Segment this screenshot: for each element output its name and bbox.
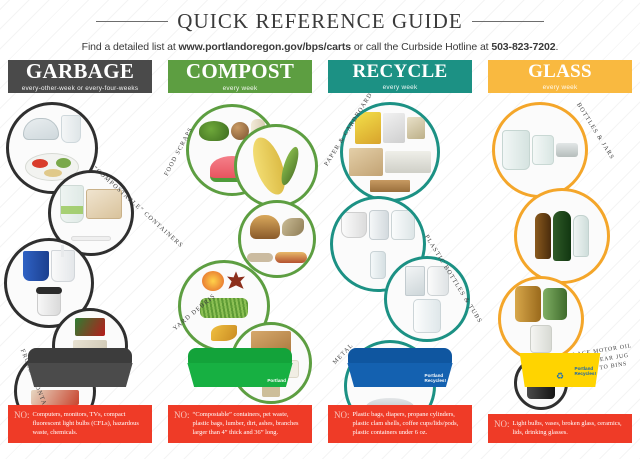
subtitle-text-end: . xyxy=(556,41,559,53)
item-mason-jar xyxy=(502,130,530,170)
banner-recycle: RECYCLE every week xyxy=(328,60,472,93)
item-clear-cup xyxy=(60,185,84,223)
item-can-label xyxy=(407,117,425,139)
item-glass-jar-small xyxy=(532,135,554,165)
title-row: QUICK REFERENCE GUIDE xyxy=(0,9,640,34)
banner-title-compost: COMPOST xyxy=(186,61,294,82)
item-paper-bag-recycle xyxy=(349,148,383,176)
no-label-garbage: NO: xyxy=(14,410,30,437)
banner-frequency-garbage: every-other-week or every-four-weeks xyxy=(22,85,139,92)
item-clamshell xyxy=(23,118,59,140)
website-link[interactable]: www.portlandoregon.gov/bps/carts xyxy=(178,41,351,53)
item-glass-jar-lid xyxy=(556,143,578,157)
banner-frequency-glass: every week xyxy=(543,84,578,91)
item-amber-jar xyxy=(515,286,541,322)
item-cardboard xyxy=(370,180,410,192)
item-cereal-box-2 xyxy=(383,113,405,143)
bin-recycle: Portland Recycles! xyxy=(344,348,456,387)
item-shrimp xyxy=(282,218,304,236)
item-hotdog xyxy=(275,252,307,263)
item-lettuce xyxy=(199,121,229,141)
banner-title-garbage: GARBAGE xyxy=(26,61,134,82)
item-yogurt-tub xyxy=(341,212,367,238)
item-chip-bag xyxy=(75,318,105,336)
item-clear-bottle xyxy=(573,215,589,257)
no-label-compost: NO: xyxy=(174,410,190,437)
subtitle-text-mid: or call the Curbside Hotline at xyxy=(351,41,491,53)
category-columns: GARBAGE every-other-week or every-four-w… xyxy=(0,60,640,459)
photo-circle-compost-3 xyxy=(238,200,316,278)
column-recycle: RECYCLE every week xyxy=(320,60,480,459)
item-juice-carton xyxy=(405,266,425,296)
no-box-compost: NO: “Compostable” containers, pet waste,… xyxy=(168,405,312,443)
photo-circle-recycle-3 xyxy=(384,256,470,342)
item-newspaper xyxy=(385,151,431,173)
item-milk-jug xyxy=(391,210,415,240)
item-green-jar xyxy=(543,288,567,320)
item-beer-bottle xyxy=(535,213,551,259)
banner-frequency-compost: every week xyxy=(223,85,258,92)
banner-garbage: GARBAGE every-other-week or every-four-w… xyxy=(8,60,152,93)
photo-circle-glass-2 xyxy=(514,188,610,284)
title-rule-right xyxy=(472,21,544,22)
bin-glass: Portland Recycles! ♻ xyxy=(518,355,602,387)
phone-number[interactable]: 503-823-7202 xyxy=(491,41,555,53)
item-yellow-leaf xyxy=(211,325,237,341)
page-header: QUICK REFERENCE GUIDE Find a detailed li… xyxy=(0,0,640,53)
title-rule-left xyxy=(96,21,168,22)
banner-glass: GLASS every week xyxy=(488,60,632,93)
photo-circle-compost-2 xyxy=(234,124,318,208)
bin-logo-recycle: Portland Recycles! xyxy=(425,374,446,384)
item-blue-cup xyxy=(23,251,49,281)
item-coffee-cup xyxy=(37,290,61,316)
column-glass: GLASS every week xyxy=(480,60,640,459)
subtitle-text-pre: Find a detailed list at xyxy=(82,41,179,53)
item-soda-cup xyxy=(51,250,75,282)
banner-compost: COMPOST every week xyxy=(168,60,312,93)
item-plastic-cup xyxy=(61,115,81,143)
item-plastic-utensil xyxy=(71,236,111,241)
item-maple-leaf xyxy=(226,271,246,291)
bin-logo-compost: Portland xyxy=(267,379,286,384)
no-text-recycle: Plastic bags, diapers, propane cylinders… xyxy=(353,410,467,437)
item-big-jug xyxy=(413,299,441,333)
item-white-jar xyxy=(530,325,552,353)
no-box-recycle: NO: Plastic bags, diapers, propane cylin… xyxy=(328,405,472,443)
banner-frequency-recycle: every week xyxy=(383,84,418,91)
bin-logo-glass: Portland Recycles! xyxy=(575,367,596,377)
item-flower xyxy=(202,271,224,291)
page-subtitle: Find a detailed list at www.portlandoreg… xyxy=(0,41,640,53)
banner-title-glass: GLASS xyxy=(528,62,592,81)
bin-garbage xyxy=(24,348,136,387)
no-label-glass: NO: xyxy=(494,419,510,437)
recycle-symbol-icon: ♻ xyxy=(556,371,564,382)
no-box-glass: NO: Light bulbs, vases, broken glass, ce… xyxy=(488,414,632,443)
item-burger xyxy=(250,215,280,239)
no-text-garbage: Computers, monitors, TVs, compact fluore… xyxy=(33,410,147,437)
banner-title-recycle: RECYCLE xyxy=(352,62,447,81)
bin-compost: Portland xyxy=(184,348,296,387)
page-title: QUICK REFERENCE GUIDE xyxy=(177,9,463,34)
column-compost: COMPOST every week xyxy=(160,60,320,459)
photo-circle-glass-3 xyxy=(498,276,584,362)
no-box-garbage: NO: Computers, monitors, TVs, compact fl… xyxy=(8,405,152,443)
column-garbage: GARBAGE every-other-week or every-four-w… xyxy=(0,60,160,459)
no-text-glass: Light bulbs, vases, broken glass, cerami… xyxy=(513,419,627,437)
no-label-recycle: NO: xyxy=(334,410,350,437)
item-wine-bottle xyxy=(553,211,571,261)
no-text-compost: “Compostable” containers, pet waste, pla… xyxy=(193,410,307,437)
item-bone xyxy=(247,253,273,262)
photo-circle-glass-1 xyxy=(492,102,588,198)
quick-reference-guide-page: QUICK REFERENCE GUIDE Find a detailed li… xyxy=(0,0,640,459)
item-plastic-bottle xyxy=(370,251,386,279)
item-detergent-bottle xyxy=(369,210,389,240)
